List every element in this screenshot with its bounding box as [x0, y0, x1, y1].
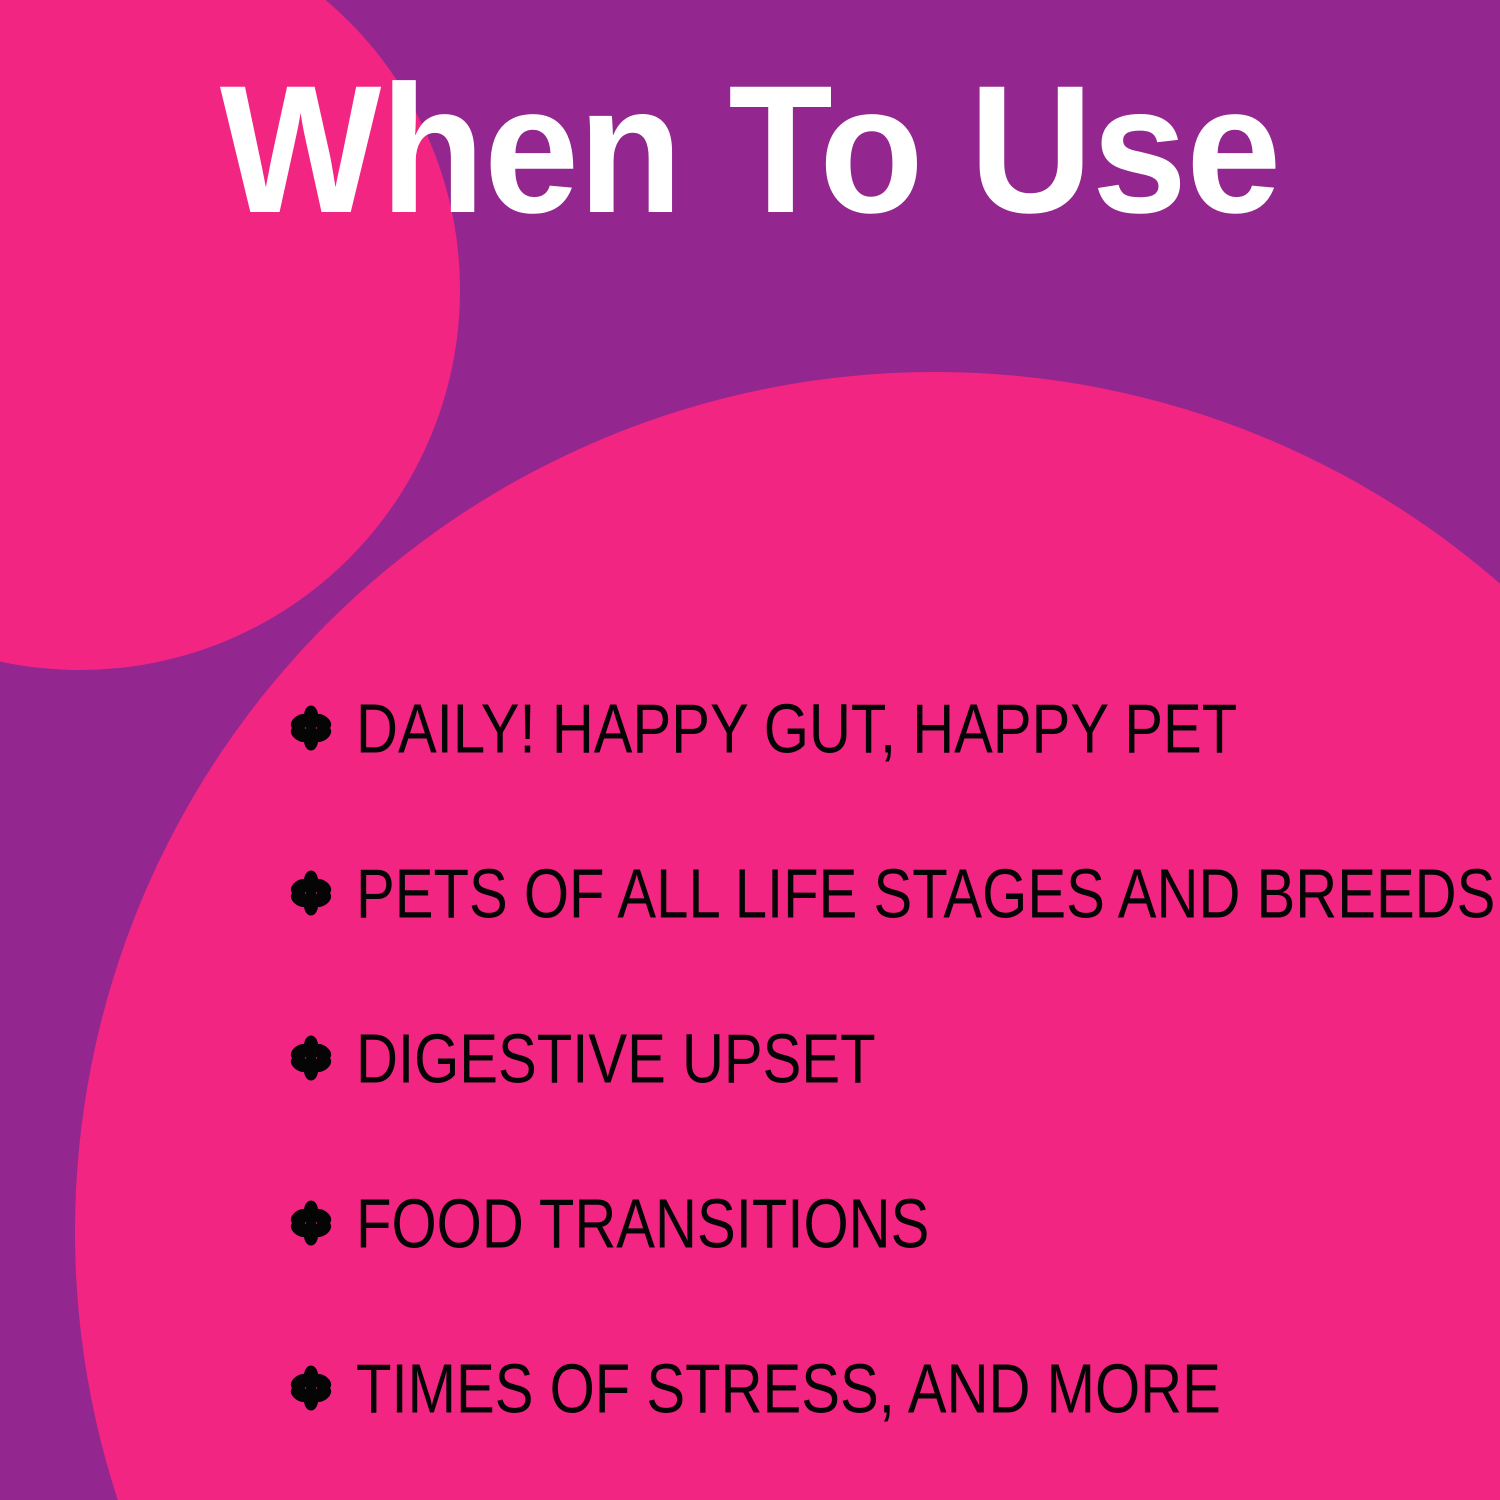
list-item-label: FOOD TRANSITIONS [356, 1188, 929, 1258]
list-item-label: TIMES OF STRESS, AND MORE [356, 1353, 1221, 1423]
list-item: TIMES OF STRESS, AND MORE [288, 1332, 1468, 1443]
list-item-label: DAILY! HAPPY GUT, HAPPY PET [356, 693, 1237, 763]
list-item: FOOD TRANSITIONS [288, 1167, 1468, 1278]
when-to-use-list: DAILY! HAPPY GUT, HAPPY PET PETS OF AL [288, 672, 1468, 1443]
list-item-label: PETS OF ALL LIFE STAGES AND BREEDS [356, 858, 1495, 928]
title-container: When To Use [0, 58, 1500, 240]
list-item: PETS OF ALL LIFE STAGES AND BREEDS [288, 837, 1468, 948]
list-item-label: DIGESTIVE UPSET [356, 1023, 876, 1093]
page-title: When To Use [220, 58, 1281, 240]
list-item: DAILY! HAPPY GUT, HAPPY PET [288, 672, 1468, 783]
flower-asterisk-icon [288, 1035, 334, 1081]
flower-asterisk-icon [288, 705, 334, 751]
flower-asterisk-icon [288, 870, 334, 916]
flower-asterisk-icon [288, 1200, 334, 1246]
list-item: DIGESTIVE UPSET [288, 1002, 1468, 1113]
flower-asterisk-icon [288, 1365, 334, 1411]
infographic-canvas: When To Use DAILY! HAPPY GUT, HAPPY [0, 0, 1500, 1500]
